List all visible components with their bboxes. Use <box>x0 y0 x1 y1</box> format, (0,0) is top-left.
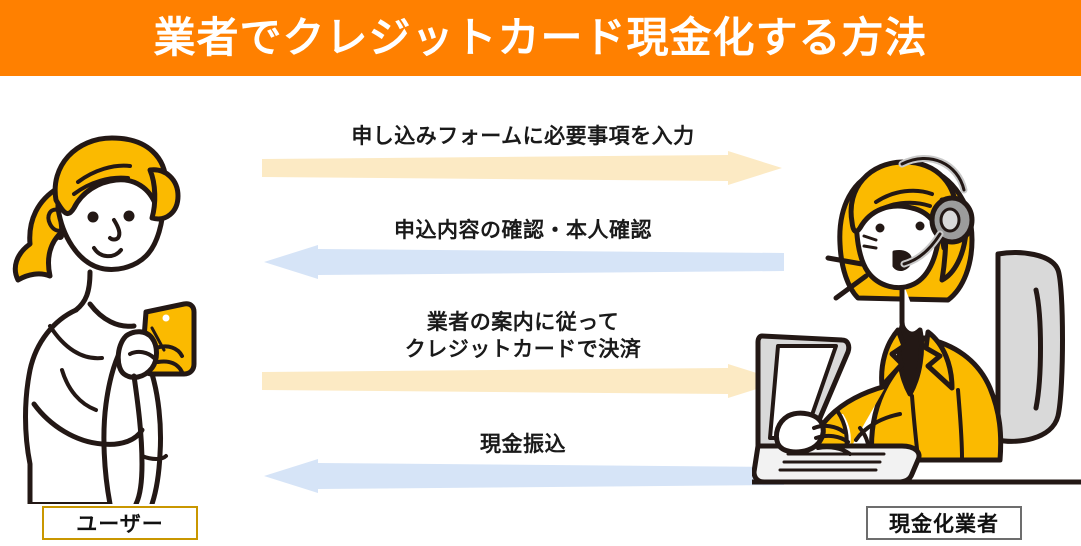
header-bar: 業者でクレジットカード現金化する方法 <box>0 0 1081 76</box>
page-title: 業者でクレジットカード現金化する方法 <box>153 17 927 59</box>
arrow-left-blue <box>258 245 788 279</box>
flow-step-3: 業者の案内に従って クレジットカードで決済 <box>258 310 788 398</box>
arrow-right-cream <box>258 151 788 185</box>
process-flow: 申し込みフォームに必要事項を入力 申込内容の確認・本人確認 業者の案内に従って … <box>258 110 788 510</box>
actor-label-user-text: ユーザー <box>76 508 164 538</box>
actor-label-provider: 現金化業者 <box>866 506 1022 540</box>
woman-with-smartphone-illustration <box>6 104 256 504</box>
flow-step-2-label: 申込内容の確認・本人確認 <box>258 218 788 245</box>
flow-step-4-label: 現金振込 <box>258 432 788 459</box>
flow-step-3-label: 業者の案内に従って クレジットカードで決済 <box>258 310 788 364</box>
arrow-left-blue <box>258 459 788 493</box>
flow-step-1-label: 申し込みフォームに必要事項を入力 <box>258 124 788 151</box>
arrow-right-cream <box>258 364 788 398</box>
actor-label-user: ユーザー <box>42 506 198 540</box>
flow-step-1: 申し込みフォームに必要事項を入力 <box>258 124 788 185</box>
actor-label-provider-text: 現金化業者 <box>889 508 999 538</box>
flow-step-4: 現金振込 <box>258 432 788 493</box>
diagram-page: 業者でクレジットカード現金化する方法 <box>0 0 1081 546</box>
flow-step-2: 申込内容の確認・本人確認 <box>258 218 788 279</box>
call-center-operator-with-laptop-illustration <box>752 140 1081 506</box>
